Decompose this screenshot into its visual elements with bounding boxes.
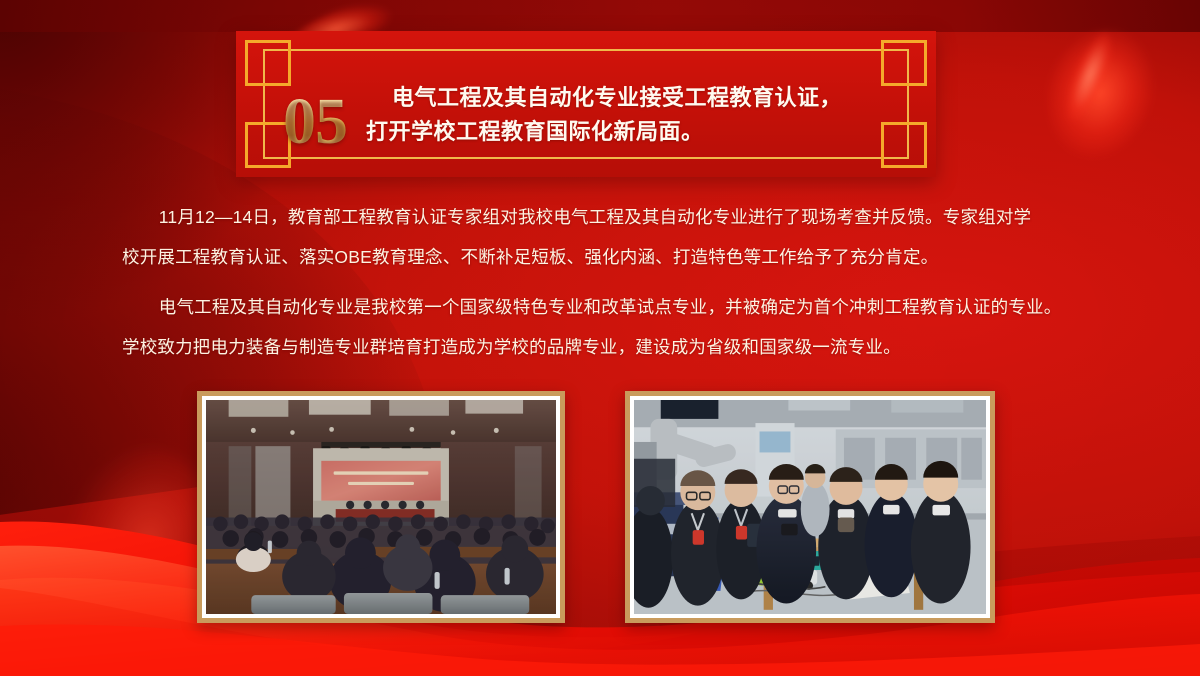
banner-title-line-2: 打开学校工程教育国际化新局面。 — [366, 115, 876, 149]
section-number: 05 — [283, 89, 347, 155]
background-top-strip — [0, 0, 1200, 32]
paragraph-2-line-2: 学校致力把电力装备与制造专业群培育打造成为学校的品牌专业，建设成为省级和国家级一… — [122, 327, 1078, 367]
conference-hall-photo — [197, 391, 565, 623]
banner-corner-bottom-right-icon — [881, 122, 927, 168]
banner-title-line-1: 电气工程及其自动化专业接受工程教育认证， — [392, 85, 842, 110]
title-banner: 05 电气工程及其自动化专业接受工程教育认证， 打开学校工程教育国际化新局面。 — [236, 31, 936, 177]
paragraph-2-line-1: 电气工程及其自动化专业是我校第一个国家级特色专业和改革试点专业，并被确定为首个冲… — [122, 287, 1078, 327]
paragraph-1-line-1: 11月12—14日，教育部工程教育认证专家组对我校电气工程及其自动化专业进行了现… — [122, 197, 1078, 237]
banner-title: 电气工程及其自动化专业接受工程教育认证， 打开学校工程教育国际化新局面。 — [392, 81, 876, 149]
conference-hall-image — [206, 400, 556, 614]
lab-visit-photo-mat — [630, 396, 990, 618]
conference-hall-photo-mat — [202, 396, 560, 618]
paragraph-1: 11月12—14日，教育部工程教育认证专家组对我校电气工程及其自动化专业进行了现… — [122, 197, 1078, 277]
banner-corner-top-right-icon — [881, 40, 927, 86]
slide-root: 05 电气工程及其自动化专业接受工程教育认证， 打开学校工程教育国际化新局面。 … — [0, 0, 1200, 676]
lab-visit-photo — [625, 391, 995, 623]
paragraph-2: 电气工程及其自动化专业是我校第一个国家级特色专业和改革试点专业，并被确定为首个冲… — [122, 287, 1078, 367]
banner-corner-top-left-icon — [245, 40, 291, 86]
lab-visit-image — [634, 400, 986, 614]
paragraph-1-line-2: 校开展工程教育认证、落实OBE教育理念、不断补足短板、强化内涵、打造特色等工作给… — [122, 237, 1078, 277]
